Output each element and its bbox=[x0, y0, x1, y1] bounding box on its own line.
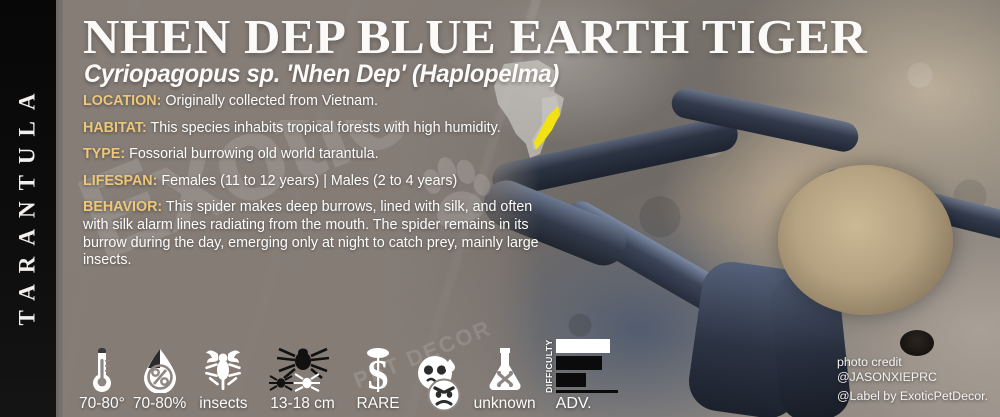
care-item-size: 13-18 cm bbox=[257, 335, 349, 413]
sidebar-edge bbox=[56, 0, 63, 417]
care-item-venom: unknown bbox=[470, 335, 540, 413]
fact-type: TYPE: Fossorial burrowing old world tara… bbox=[83, 146, 553, 164]
care-item-humidity: 70-80% bbox=[129, 335, 190, 413]
difficulty-level: ADV. bbox=[556, 395, 592, 413]
page-title: NHEN DEP BLUE EARTH TIGER bbox=[83, 8, 867, 65]
species-label-card: Exotic PET DECOR TARANTULA NHEN DEP BLUE… bbox=[0, 0, 1000, 417]
credit-line-3: @Label by ExoticPetDecor. bbox=[837, 389, 988, 404]
thermometer-icon bbox=[89, 347, 115, 393]
care-item-temperature: 70-80° bbox=[75, 335, 129, 413]
scientific-name: Cyriopagopus sp. 'Nhen Dep' (Haplopelma) bbox=[84, 60, 559, 89]
dollar-sign-icon: $ bbox=[361, 347, 395, 393]
svg-text:$: $ bbox=[368, 353, 389, 393]
temperament-faces-icon bbox=[410, 353, 468, 411]
fact-label: LIFESPAN: bbox=[83, 173, 157, 189]
care-icon-row: 70-80° 70-80% bbox=[75, 333, 618, 413]
care-caption: unknown bbox=[474, 395, 536, 413]
fact-label: BEHAVIOR: bbox=[83, 199, 162, 215]
fact-label: LOCATION: bbox=[83, 93, 161, 109]
care-caption: 70-80° bbox=[79, 395, 125, 413]
fact-label: TYPE: bbox=[83, 146, 125, 162]
fact-location: LOCATION: Originally collected from Viet… bbox=[83, 93, 553, 111]
humidity-droplet-icon bbox=[139, 347, 181, 393]
credit-line-2: @JASONXIEPRC bbox=[837, 370, 988, 385]
credit-line-1: photo credit bbox=[837, 355, 988, 370]
difficulty-bar bbox=[556, 356, 602, 370]
fact-text: Females (11 to 12 years) | Males (2 to 4… bbox=[157, 173, 457, 189]
fact-behavior: BEHAVIOR: This spider makes deep burrows… bbox=[83, 199, 553, 269]
care-item-price: $ RARE bbox=[349, 335, 408, 413]
care-caption: RARE bbox=[357, 395, 400, 413]
difficulty-column: ADV. bbox=[556, 339, 618, 413]
difficulty-bar bbox=[556, 373, 586, 387]
fact-text: Fossorial burrowing old world tarantula. bbox=[125, 146, 379, 162]
insect-icon bbox=[199, 347, 247, 393]
photo-credit: photo credit @JASONXIEPRC @Label by Exot… bbox=[837, 355, 988, 404]
care-caption: insects bbox=[199, 395, 247, 413]
difficulty-baseline bbox=[556, 390, 618, 393]
fact-habitat: HABITAT: This species inhabits tropical … bbox=[83, 120, 553, 138]
care-caption: 13-18 cm bbox=[270, 395, 335, 413]
fact-lifespan: LIFESPAN: Females (11 to 12 years) | Mal… bbox=[83, 173, 553, 191]
fact-list: LOCATION: Originally collected from Viet… bbox=[83, 93, 553, 279]
care-caption: 70-80% bbox=[133, 395, 186, 413]
difficulty-bar bbox=[556, 339, 610, 353]
difficulty-label: DIFFICULTY bbox=[544, 345, 554, 393]
fact-text: Originally collected from Vietnam. bbox=[161, 93, 378, 109]
care-item-temperament bbox=[408, 335, 470, 413]
sidebar: TARANTULA bbox=[0, 0, 56, 417]
sidebar-label-tarantula: TARANTULA bbox=[0, 1, 56, 417]
difficulty-bars bbox=[556, 339, 618, 393]
venom-flask-icon bbox=[485, 347, 525, 393]
fact-label: HABITAT: bbox=[83, 120, 147, 136]
fact-text: This species inhabits tropical forests w… bbox=[147, 120, 501, 136]
care-item-diet: insects bbox=[190, 335, 256, 413]
difficulty-indicator: DIFFICULTY ADV. bbox=[544, 335, 618, 413]
spider-size-icon bbox=[267, 347, 339, 393]
